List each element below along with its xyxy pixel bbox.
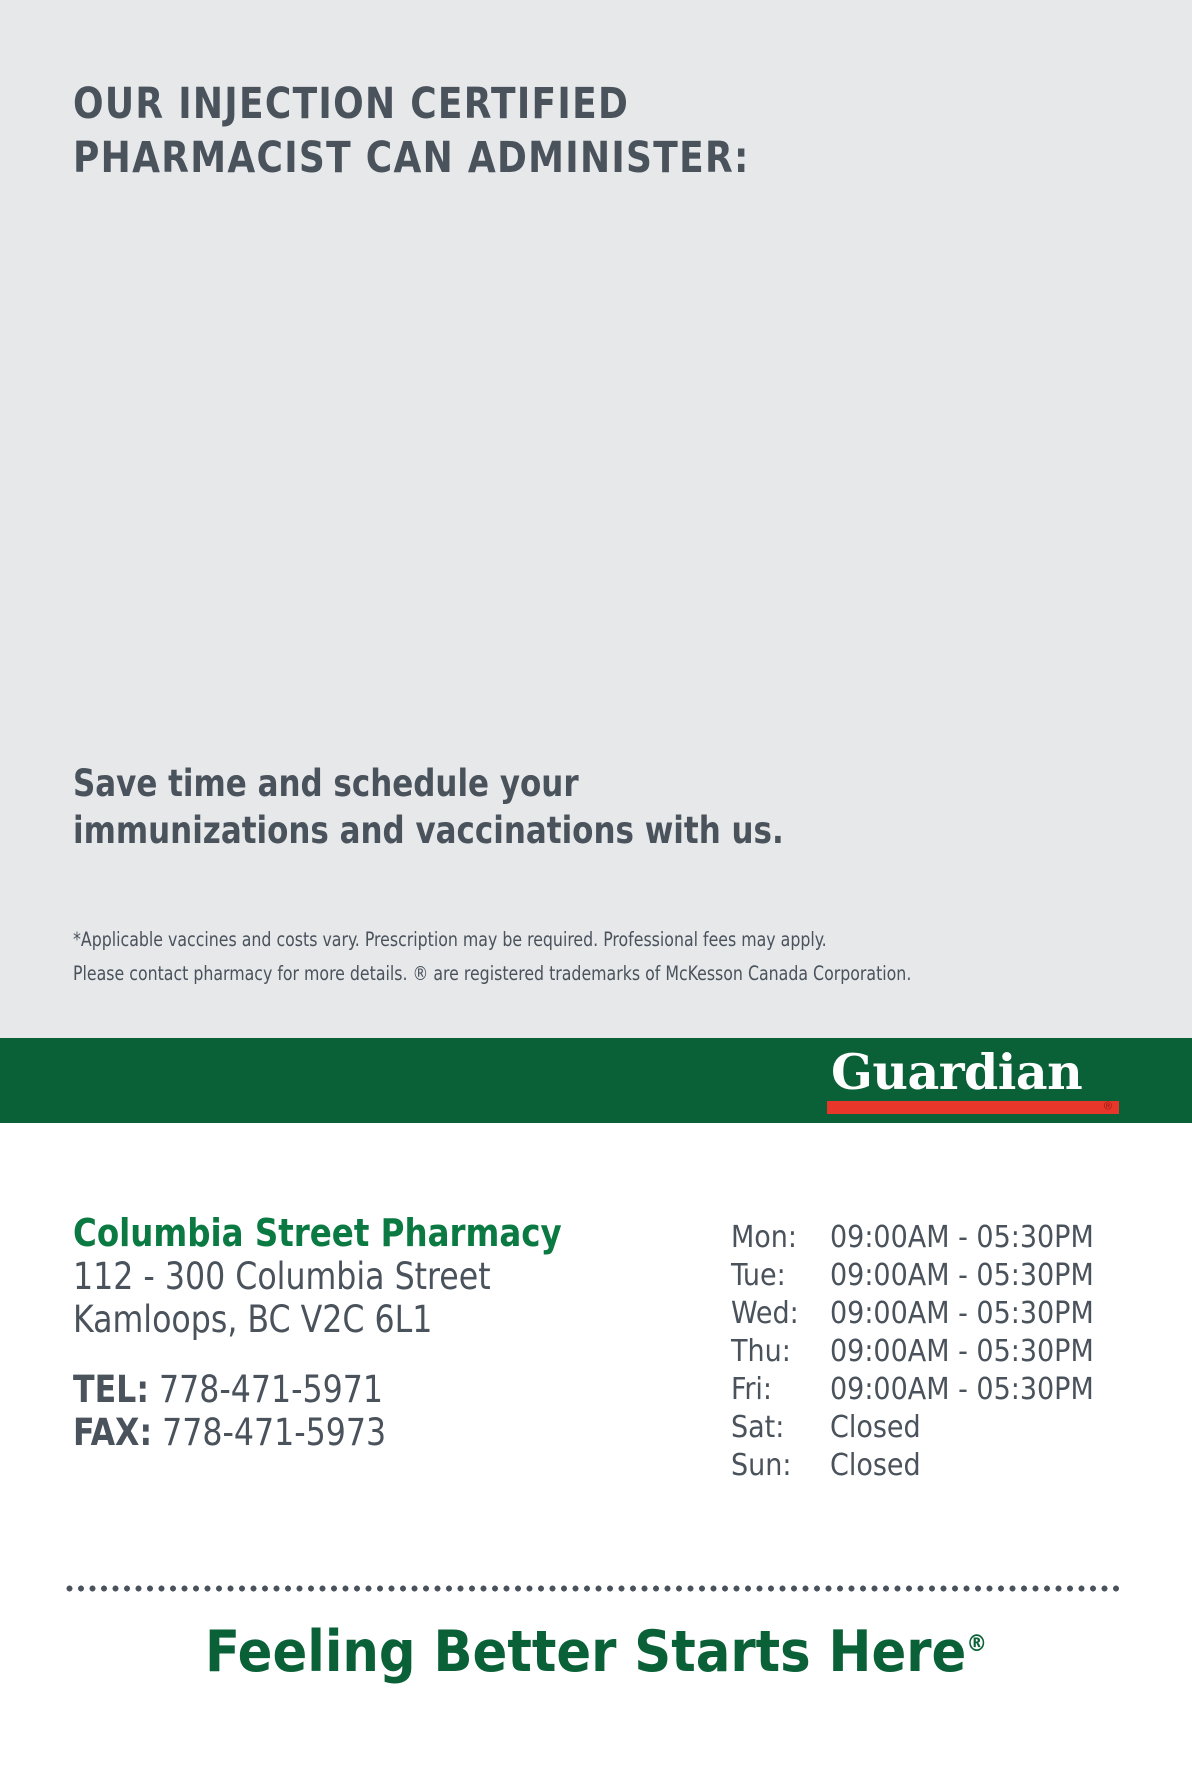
telephone-label: TEL: xyxy=(73,1368,149,1411)
headline-line-2: PHARMACIST CAN ADMINISTER: xyxy=(73,132,910,186)
registered-trademark-icon: ® xyxy=(1104,1102,1112,1113)
hours-time-value: 09:00AM - 05:30PM xyxy=(829,1257,1119,1295)
fax-label: FAX: xyxy=(73,1411,152,1454)
guardian-logo: Guardian ® xyxy=(827,1048,1119,1114)
brand-tagline: Feeling Better Starts Here® xyxy=(0,1621,1192,1684)
store-address-line-2: Kamloops, BC V2C 6L1 xyxy=(73,1298,643,1341)
table-row: Wed: 09:00AM - 05:30PM xyxy=(731,1295,1119,1333)
hours-time-value: 09:00AM - 05:30PM xyxy=(829,1295,1119,1333)
table-row: Fri: 09:00AM - 05:30PM xyxy=(731,1371,1119,1409)
hours-day-label: Sat: xyxy=(731,1409,829,1447)
hours-day-label: Fri: xyxy=(731,1371,829,1409)
hours-time-value: 09:00AM - 05:30PM xyxy=(829,1371,1119,1409)
store-info-columns: Columbia Street Pharmacy 112 - 300 Colum… xyxy=(73,1211,1119,1485)
store-telephone-row: TEL: 778-471-5971 xyxy=(73,1368,643,1411)
store-address-line-1: 112 - 300 Columbia Street xyxy=(73,1255,643,1298)
store-info-panel: Columbia Street Pharmacy 112 - 300 Colum… xyxy=(0,1123,1192,1785)
hours-time-value: 09:00AM - 05:30PM xyxy=(829,1333,1119,1371)
store-contact-column: Columbia Street Pharmacy 112 - 300 Colum… xyxy=(73,1211,673,1454)
disclaimer-line-1: *Applicable vaccines and costs vary. Pre… xyxy=(73,923,1027,957)
table-row: Sun: Closed xyxy=(731,1447,1119,1485)
logo-underline-rule: ® xyxy=(827,1101,1119,1114)
headline-line-1: OUR INJECTION CERTIFIED xyxy=(73,78,910,132)
hours-time-value: 09:00AM - 05:30PM xyxy=(829,1219,1119,1257)
dotted-divider xyxy=(66,1585,1122,1593)
disclaimer-line-2: Please contact pharmacy for more details… xyxy=(73,957,1027,991)
telephone-value[interactable]: 778-471-5971 xyxy=(159,1368,383,1411)
tagline-text: Feeling Better Starts Here xyxy=(205,1619,966,1685)
subheading-line-1: Save time and schedule your xyxy=(73,760,891,807)
store-hours-table: Mon: 09:00AM - 05:30PM Tue: 09:00AM - 05… xyxy=(731,1219,1119,1485)
hours-time-value: Closed xyxy=(829,1447,1119,1485)
hero-panel: OUR INJECTION CERTIFIED PHARMACIST CAN A… xyxy=(0,0,1192,1038)
hours-day-label: Tue: xyxy=(731,1257,829,1295)
hours-time-value: Closed xyxy=(829,1409,1119,1447)
guardian-wordmark: Guardian xyxy=(827,1048,1119,1097)
fax-value: 778-471-5973 xyxy=(162,1411,386,1454)
subheading-line-2: immunizations and vaccinations with us. xyxy=(73,807,891,854)
hours-day-label: Sun: xyxy=(731,1447,829,1485)
hours-day-label: Mon: xyxy=(731,1219,829,1257)
store-name: Columbia Street Pharmacy xyxy=(73,1211,643,1255)
store-fax-row: FAX: 778-471-5973 xyxy=(73,1411,643,1454)
store-phone-group: TEL: 778-471-5971 FAX: 778-471-5973 xyxy=(73,1368,673,1455)
brand-band: Guardian ® xyxy=(0,1038,1192,1123)
hours-day-label: Wed: xyxy=(731,1295,829,1333)
store-hours-body: Mon: 09:00AM - 05:30PM Tue: 09:00AM - 05… xyxy=(731,1219,1119,1485)
disclaimer-text: *Applicable vaccines and costs vary. Pre… xyxy=(73,923,1027,990)
table-row: Sat: Closed xyxy=(731,1409,1119,1447)
page-title: OUR INJECTION CERTIFIED PHARMACIST CAN A… xyxy=(73,78,910,186)
pharmacy-flyer: OUR INJECTION CERTIFIED PHARMACIST CAN A… xyxy=(0,0,1192,1785)
table-row: Mon: 09:00AM - 05:30PM xyxy=(731,1219,1119,1257)
tagline-registered-icon: ® xyxy=(966,1631,987,1657)
subheading: Save time and schedule your immunization… xyxy=(73,760,891,855)
table-row: Thu: 09:00AM - 05:30PM xyxy=(731,1333,1119,1371)
hours-day-label: Thu: xyxy=(731,1333,829,1371)
table-row: Tue: 09:00AM - 05:30PM xyxy=(731,1257,1119,1295)
